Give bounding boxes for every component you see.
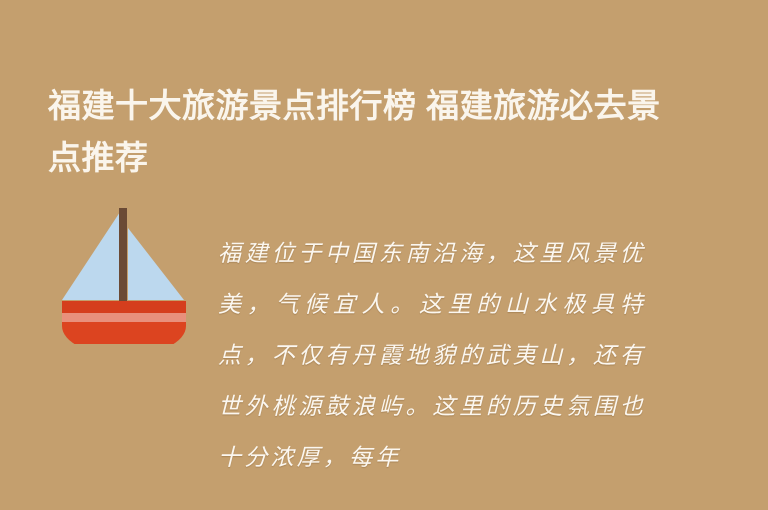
- article-card: 福建十大旅游景点排行榜 福建旅游必去景点推荐 福建位于中国东南沿海，这里风景优美…: [0, 0, 768, 510]
- sailboat-icon: [58, 202, 190, 344]
- article-body-text: 福建位于中国东南沿海，这里风景优美，气候宜人。这里的山水极具特点，不仅有丹霞地貌…: [218, 229, 646, 484]
- page-title: 福建十大旅游景点排行榜 福建旅游必去景点推荐: [48, 80, 668, 184]
- content-row: 福建位于中国东南沿海，这里风景优美，气候宜人。这里的山水极具特点，不仅有丹霞地貌…: [0, 196, 768, 466]
